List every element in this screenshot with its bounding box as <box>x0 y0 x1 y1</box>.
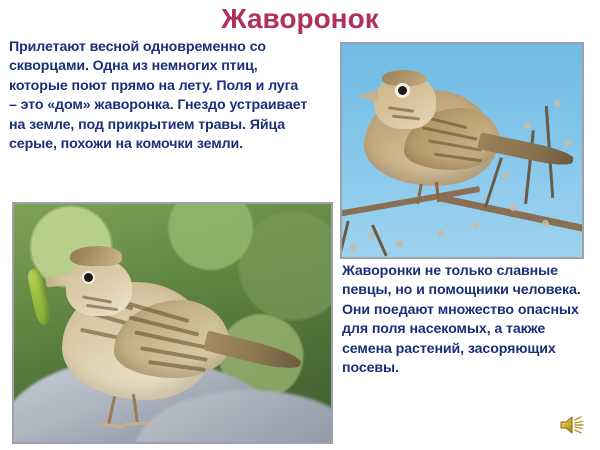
bud-shape <box>396 240 403 247</box>
bird-crest <box>70 246 122 266</box>
bud-shape <box>472 222 479 229</box>
bud-shape <box>510 204 517 211</box>
bud-shape <box>350 244 357 251</box>
bud-shape <box>564 140 571 147</box>
right-text-block: Жаворонки не только славные певцы, но и … <box>342 262 598 378</box>
bud-shape <box>438 230 445 237</box>
bird-tail <box>203 330 303 373</box>
bird-eye <box>398 86 407 95</box>
lark-with-caterpillar-photo <box>12 202 333 444</box>
bird-foot <box>98 422 124 429</box>
page-title: Жаворонок <box>0 2 600 36</box>
presentation-slide: Жаворонок Прилетают весной одновременно … <box>0 0 600 450</box>
bird-eye <box>84 273 93 282</box>
bird-tail <box>477 132 574 169</box>
lark-bird-figure <box>356 64 538 204</box>
twig-shape <box>340 221 350 259</box>
bud-shape <box>542 220 549 227</box>
left-text-block: Прилетают весной одновременно со скворца… <box>9 38 309 154</box>
bird-leg <box>416 184 422 204</box>
speaker-icon[interactable] <box>558 412 586 438</box>
sky-background <box>342 44 582 257</box>
lark-bird-figure <box>36 238 301 428</box>
lark-on-branch-photo <box>340 42 584 259</box>
bird-crest <box>382 70 426 86</box>
bud-shape <box>554 100 561 107</box>
bird-leg <box>107 396 116 426</box>
bird-head <box>66 258 132 316</box>
meadow-background <box>14 204 331 442</box>
twig-shape <box>371 224 388 256</box>
bird-beak <box>358 90 378 102</box>
bud-shape <box>368 232 375 239</box>
bird-foot <box>124 421 150 426</box>
